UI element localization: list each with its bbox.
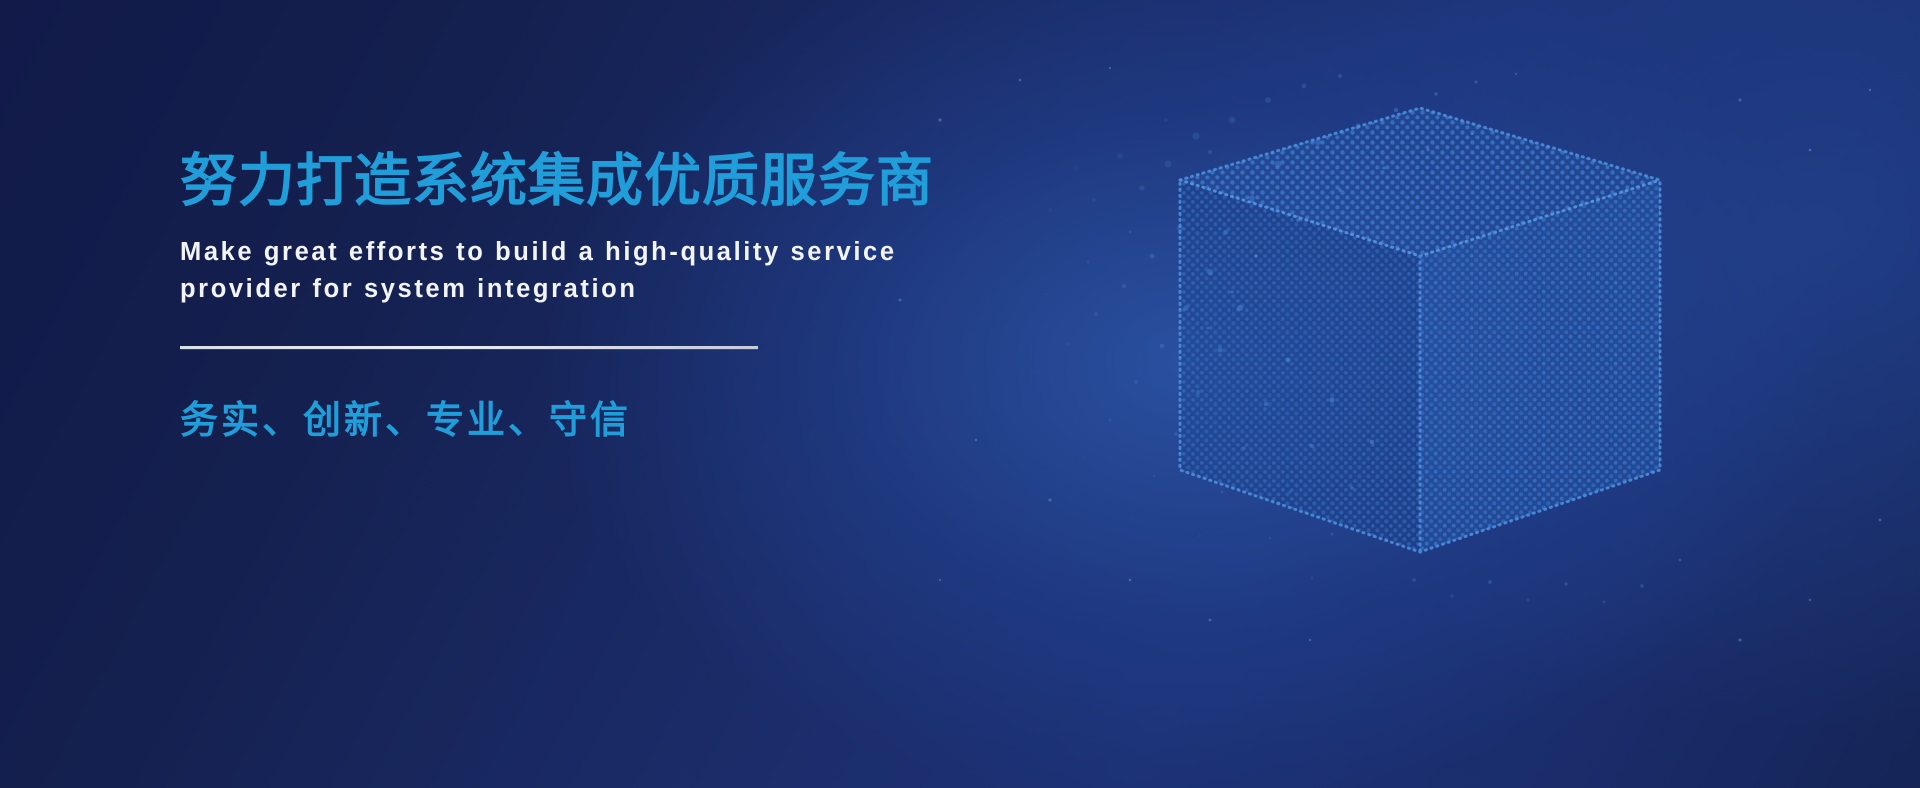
hero-divider [180, 346, 758, 349]
hero-subtitle-line-1: Make great efforts to build a high-quali… [180, 234, 1060, 271]
hero-headline: 努力打造系统集成优质服务商 [180, 152, 1080, 212]
hero-subtitle-line-2: provider for system integration [180, 271, 1060, 308]
hero-tagline: 务实、创新、专业、守信 [180, 389, 1080, 444]
hero-subtitle: Make great efforts to build a high-quali… [180, 234, 1060, 308]
hero-text-block: 努力打造系统集成优质服务商 Make great efforts to buil… [180, 152, 1080, 444]
hero-banner: 努力打造系统集成优质服务商 Make great efforts to buil… [0, 0, 1920, 788]
